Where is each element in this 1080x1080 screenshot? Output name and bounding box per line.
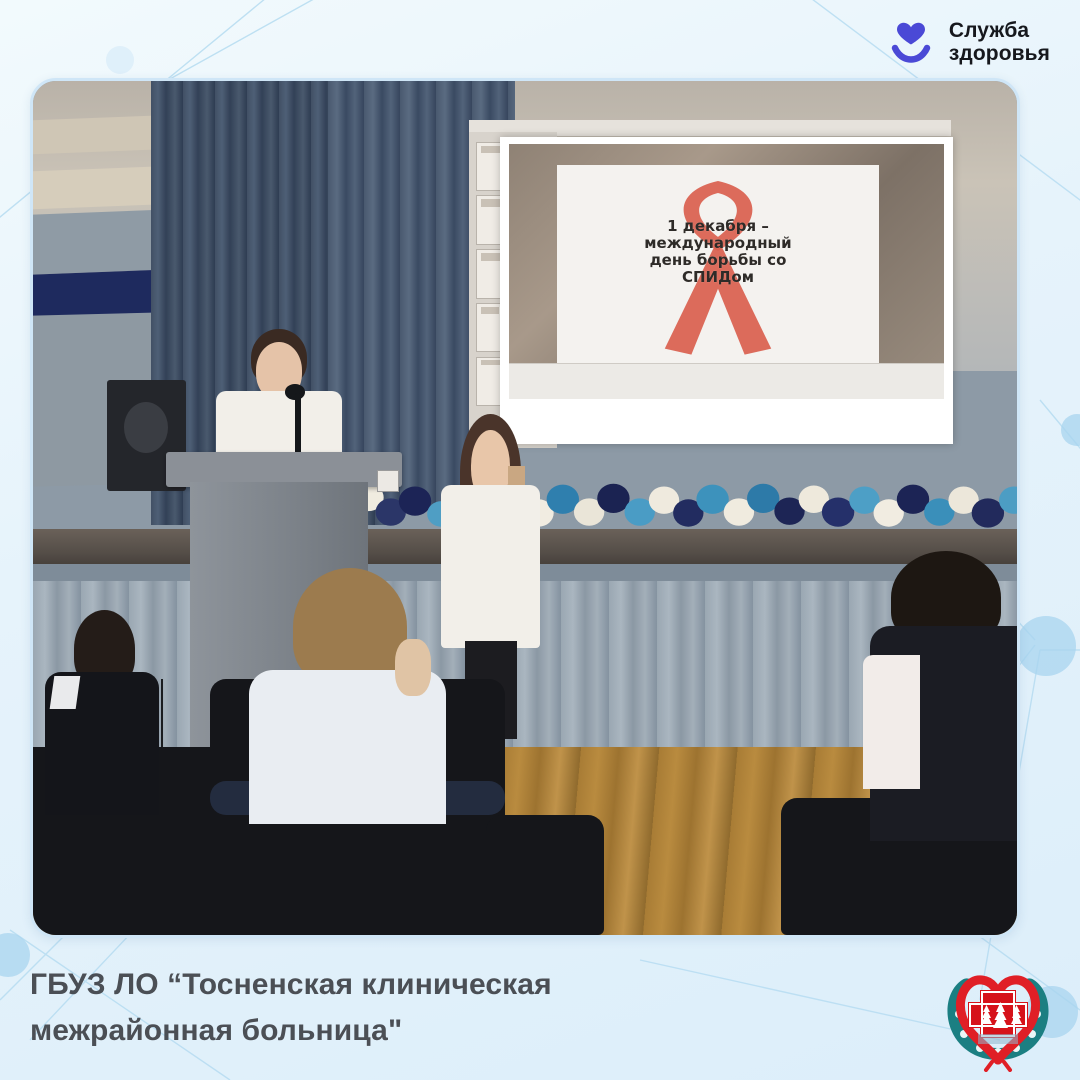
slide-text-line4: СПИДом: [570, 269, 866, 286]
powerpoint-status-bar: [509, 363, 944, 400]
slide-text-line3: день борьбы со: [570, 252, 866, 269]
audience-student-right: [860, 551, 1017, 841]
brand-title-line2: здоровья: [949, 42, 1050, 65]
projector-screen: 1 декабря – международный день борьбы со…: [500, 137, 953, 444]
event-photo: СПИД 1 декабря – междун: [33, 81, 1017, 935]
brand-lockup: Служба здоровья: [887, 18, 1050, 66]
second-speaker-lab-coat: [441, 485, 541, 647]
heart-smile-logo-icon: [887, 18, 935, 66]
poster-canvas: Служба здоровья: [0, 0, 1080, 1080]
chair: [486, 815, 604, 935]
audience-student-left: [43, 610, 161, 815]
organization-caption: ГБУЗ ЛО “Тосненская клиническая межрайон…: [30, 962, 670, 1054]
event-photo-card: СПИД 1 декабря – междун: [30, 78, 1020, 938]
caption-line2: межрайонная больница": [30, 1008, 670, 1054]
presentation-slide: 1 декабря – международный день борьбы со…: [557, 165, 879, 369]
balloon-garland: [328, 470, 1017, 534]
projected-slide-area: 1 декабря – международный день борьбы со…: [509, 144, 944, 399]
podium-emblem-plate: [377, 470, 399, 492]
caption-line1: ГБУЗ ЛО “Тосненская клиническая: [30, 962, 670, 1008]
hospital-emblem-icon: [928, 952, 1068, 1072]
brand-title-line1: Служба: [949, 19, 1050, 42]
slide-text-line2: международный: [570, 235, 866, 252]
audience-student-center: [249, 568, 446, 824]
slide-text-line1: 1 декабря –: [570, 218, 866, 235]
brand-title: Служба здоровья: [949, 19, 1050, 65]
slide-text: 1 декабря – международный день борьбы со…: [570, 218, 866, 286]
speaker-cone: [124, 402, 168, 453]
